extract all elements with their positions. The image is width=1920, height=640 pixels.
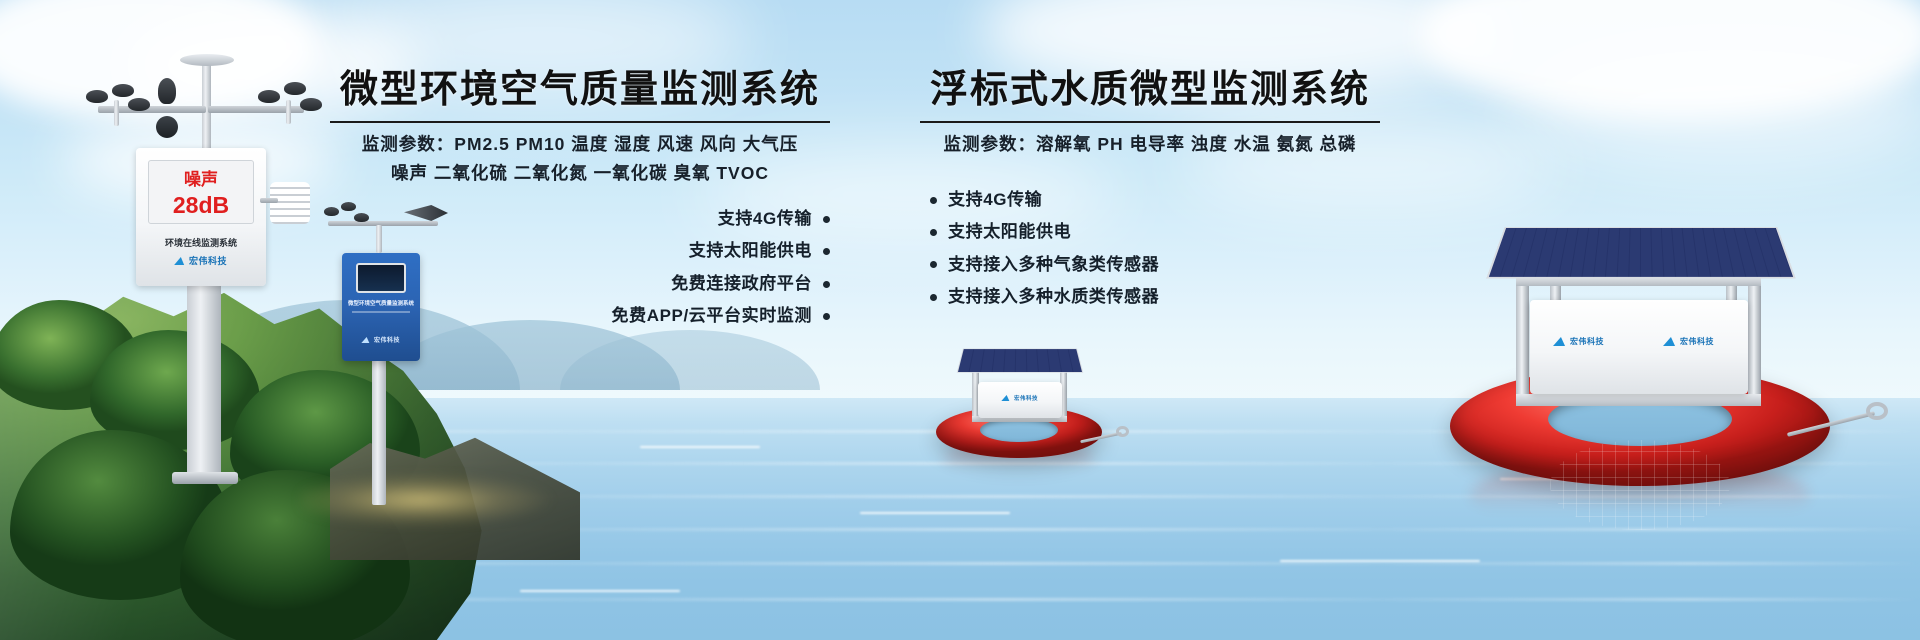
cage-beam-bottom-front (1516, 394, 1761, 406)
brand-name: 宏伟科技 (1014, 394, 1038, 402)
buoy-small-instrument-housing: 宏伟科技 (978, 382, 1062, 418)
station-base (172, 472, 238, 484)
brand-logo-icon (1663, 337, 1677, 346)
left-feature-text: 免费APP/云平台实时监测 (612, 306, 812, 326)
micro-monitor-brand: 宏伟科技 (342, 335, 420, 344)
shield-arm (260, 198, 278, 203)
buoy-large-mooring-eye (1866, 402, 1888, 420)
water-glint-3 (860, 512, 1010, 514)
anemometer-cup (112, 84, 134, 97)
brand-logo-icon (174, 257, 186, 265)
list-item: 免费APP/云平台实时监测 (330, 300, 830, 332)
bullet-dot-icon (823, 313, 830, 320)
anemometer-cup (284, 82, 306, 95)
right-feature-text: 支持太阳能供电 (948, 222, 1071, 242)
anemometer-stem (286, 100, 291, 124)
buoy-large-brand-left: 宏伟科技 (1554, 336, 1604, 347)
left-feature-text: 免费连接政府平台 (671, 274, 812, 294)
right-params-line-1: 监测参数：溶解氧 PH 电导率 浊度 水温 氨氮 总磷 (920, 131, 1380, 158)
right-headline: 浮标式水质微型监测系统 (920, 70, 1380, 112)
shore-highlight (300, 470, 600, 530)
bullet-dot-icon (823, 216, 830, 223)
banner-stage: 噪声 28dB 环境在线监测系统 宏伟科技 微型环境空气质量监测系统 (0, 0, 1920, 640)
radiation-shield (270, 182, 310, 224)
rain-gauge (180, 54, 234, 66)
list-item: 支持4G传输 (330, 203, 830, 235)
right-headline-rule (920, 121, 1380, 123)
left-headline-rule (330, 121, 830, 123)
sensor-dome (156, 116, 178, 138)
brand-name: 宏伟科技 (189, 254, 227, 267)
anemometer-right (258, 86, 318, 122)
anemometer-cup (258, 90, 280, 103)
right-feature-text: 支持接入多种水质类传感器 (948, 287, 1159, 307)
brand-logo-icon (361, 337, 370, 343)
air-quality-station: 噪声 28dB 环境在线监测系统 宏伟科技 (80, 30, 340, 450)
list-item: 支持接入多种气象类传感器 (930, 249, 1380, 281)
buoy-small-mooring-eye (1116, 426, 1129, 437)
cloud-6 (1520, 40, 1920, 170)
left-feature-list: 支持4G传输 支持太阳能供电 免费连接政府平台 免费APP/云平台实时监测 (330, 203, 830, 333)
bullet-dot-icon (823, 281, 830, 288)
right-text-panel: 浮标式水质微型监测系统 监测参数：溶解氧 PH 电导率 浊度 水温 氨氮 总磷 … (920, 70, 1380, 313)
cage-post-front-left (1516, 276, 1529, 406)
anemometer-left (88, 88, 148, 122)
station-enclosure: 噪声 28dB 环境在线监测系统 宏伟科技 (136, 148, 266, 286)
list-item: 支持太阳能供电 (330, 235, 830, 267)
anemometer-cup (86, 90, 108, 103)
buoy-large-brand-right: 宏伟科技 (1664, 336, 1714, 347)
buoy-large-instrument-housing: 宏伟科技 宏伟科技 (1530, 300, 1748, 394)
anemometer-stem (114, 100, 119, 126)
left-feature-text: 支持4G传输 (718, 209, 812, 229)
anemometer-cup (300, 98, 322, 111)
water-quality-buoy-small: 宏伟科技 (930, 330, 1110, 470)
brand-logo-icon (1553, 337, 1567, 346)
noise-value: 28dB (173, 192, 229, 219)
bullet-dot-icon (930, 261, 937, 268)
brand-name: 宏伟科技 (1680, 336, 1714, 347)
wind-vane (158, 78, 176, 104)
station-caption: 环境在线监测系统 (136, 236, 266, 249)
noise-display: 噪声 28dB (148, 160, 254, 224)
station-pole (187, 280, 221, 480)
brand-name: 宏伟科技 (374, 335, 400, 344)
water-glint-5 (520, 590, 680, 592)
bullet-dot-icon (930, 229, 937, 236)
buoy-large-solar-panel (1486, 227, 1796, 279)
left-headline: 微型环境空气质量监测系统 (330, 70, 830, 112)
left-feature-text: 支持太阳能供电 (689, 241, 812, 261)
bullet-dot-icon (930, 294, 937, 301)
left-params-line-2: 噪声 二氧化硫 二氧化氮 一氧化碳 臭氧 TVOC (330, 160, 830, 187)
list-item: 支持4G传输 (930, 184, 1380, 216)
list-item: 支持太阳能供电 (930, 216, 1380, 248)
noise-label: 噪声 (184, 165, 218, 190)
cage-post-front-right (1748, 276, 1761, 406)
station-brand: 宏伟科技 (136, 254, 266, 267)
bullet-dot-icon (930, 197, 937, 204)
left-text-panel: 微型环境空气质量监测系统 监测参数：PM2.5 PM10 温度 湿度 风速 风向… (330, 70, 830, 333)
brand-name: 宏伟科技 (1570, 336, 1604, 347)
list-item: 免费连接政府平台 (330, 268, 830, 300)
buoy-small-brand: 宏伟科技 (978, 394, 1062, 402)
left-params-line-1: 监测参数：PM2.5 PM10 温度 湿度 风速 风向 大气压 (330, 131, 830, 158)
right-feature-text: 支持4G传输 (948, 190, 1042, 210)
water-glint-1 (640, 446, 760, 448)
right-feature-list: 支持4G传输 支持太阳能供电 支持接入多种气象类传感器 支持接入多种水质类传感器 (920, 184, 1380, 314)
buoy-large-submerged-mesh (1550, 440, 1730, 530)
buoy-small-solar-panel (957, 349, 1084, 373)
bullet-dot-icon (823, 248, 830, 255)
water-glint-4 (1280, 560, 1480, 562)
water-quality-buoy-large: 宏伟科技 宏伟科技 (1430, 180, 1850, 530)
brand-logo-icon (1001, 395, 1010, 401)
list-item: 支持接入多种水质类传感器 (930, 281, 1380, 313)
anemometer-cup (128, 98, 150, 111)
right-feature-text: 支持接入多种气象类传感器 (948, 255, 1159, 275)
